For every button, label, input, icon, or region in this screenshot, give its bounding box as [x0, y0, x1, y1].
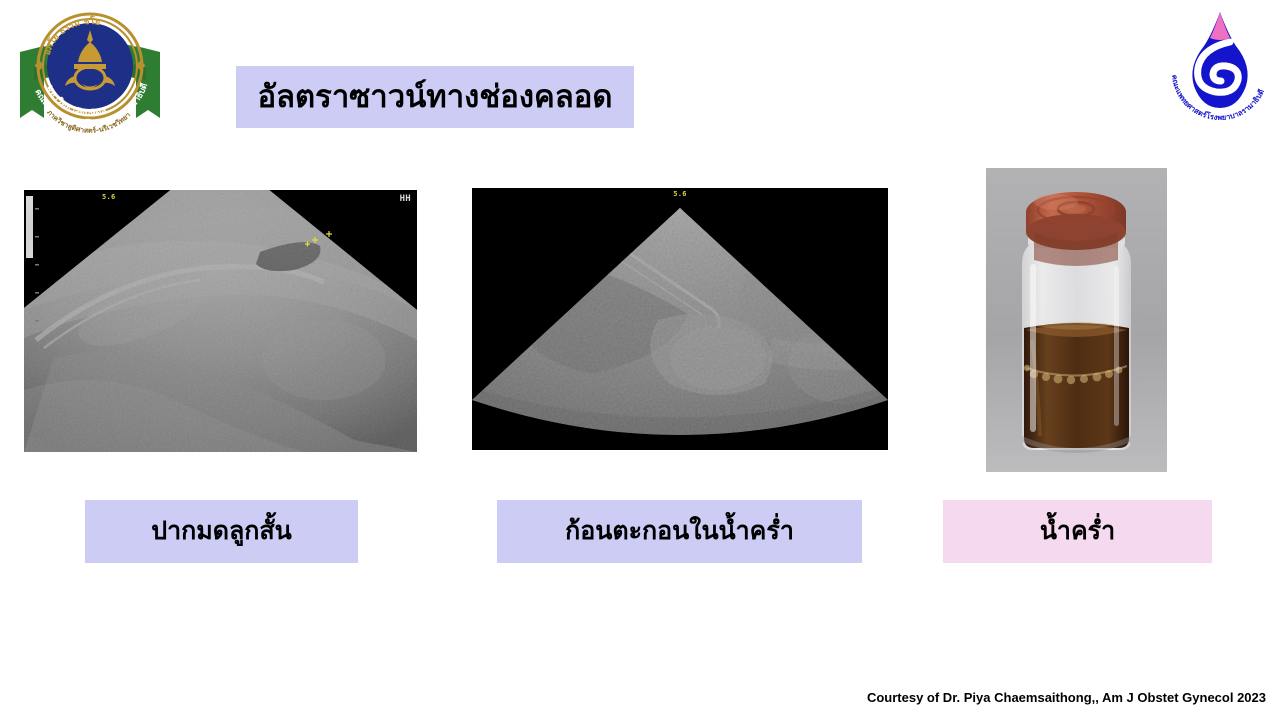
amniotic-fluid-specimen-photo	[986, 168, 1167, 472]
caption-label-amniotic-fluid: น้ำคร่ำ	[1040, 518, 1115, 544]
ultrasound-image-amniotic-sludge: 5.6	[472, 188, 888, 450]
slide-title-box: อัลตราซาวน์ทางช่องคลอด	[236, 66, 634, 128]
caption-box-amniotic-sludge: ก้อนตะกอนในน้ำคร่ำ	[497, 500, 862, 563]
page-title: อัลตราซาวน์ทางช่องคลอด	[257, 80, 612, 114]
caption-label-short-cervix: ปากมดลูกสั้น	[151, 518, 292, 544]
footer-credit: Courtesy of Dr. Piya Chaemsaithong,, Am …	[867, 690, 1266, 705]
mahidol-ramathibodi-logo: อภโย ธรรม ชโย มหาวิทยาลัยมหิดล คณะแพทยศา…	[14, 6, 166, 138]
caption-box-amniotic-fluid: น้ำคร่ำ	[943, 500, 1212, 563]
ramathibodi-droplet-logo: คณะแพทยศาสตร์โรงพยาบาลรามาธิบดี	[1168, 8, 1272, 120]
caption-label-amniotic-sludge: ก้อนตะกอนในน้ำคร่ำ	[565, 518, 794, 544]
ultrasound-image-short-cervix: 5.6 HH	[24, 190, 417, 452]
droplet-tip	[1210, 12, 1230, 40]
caption-box-short-cervix: ปากมดลูกสั้น	[85, 500, 358, 563]
